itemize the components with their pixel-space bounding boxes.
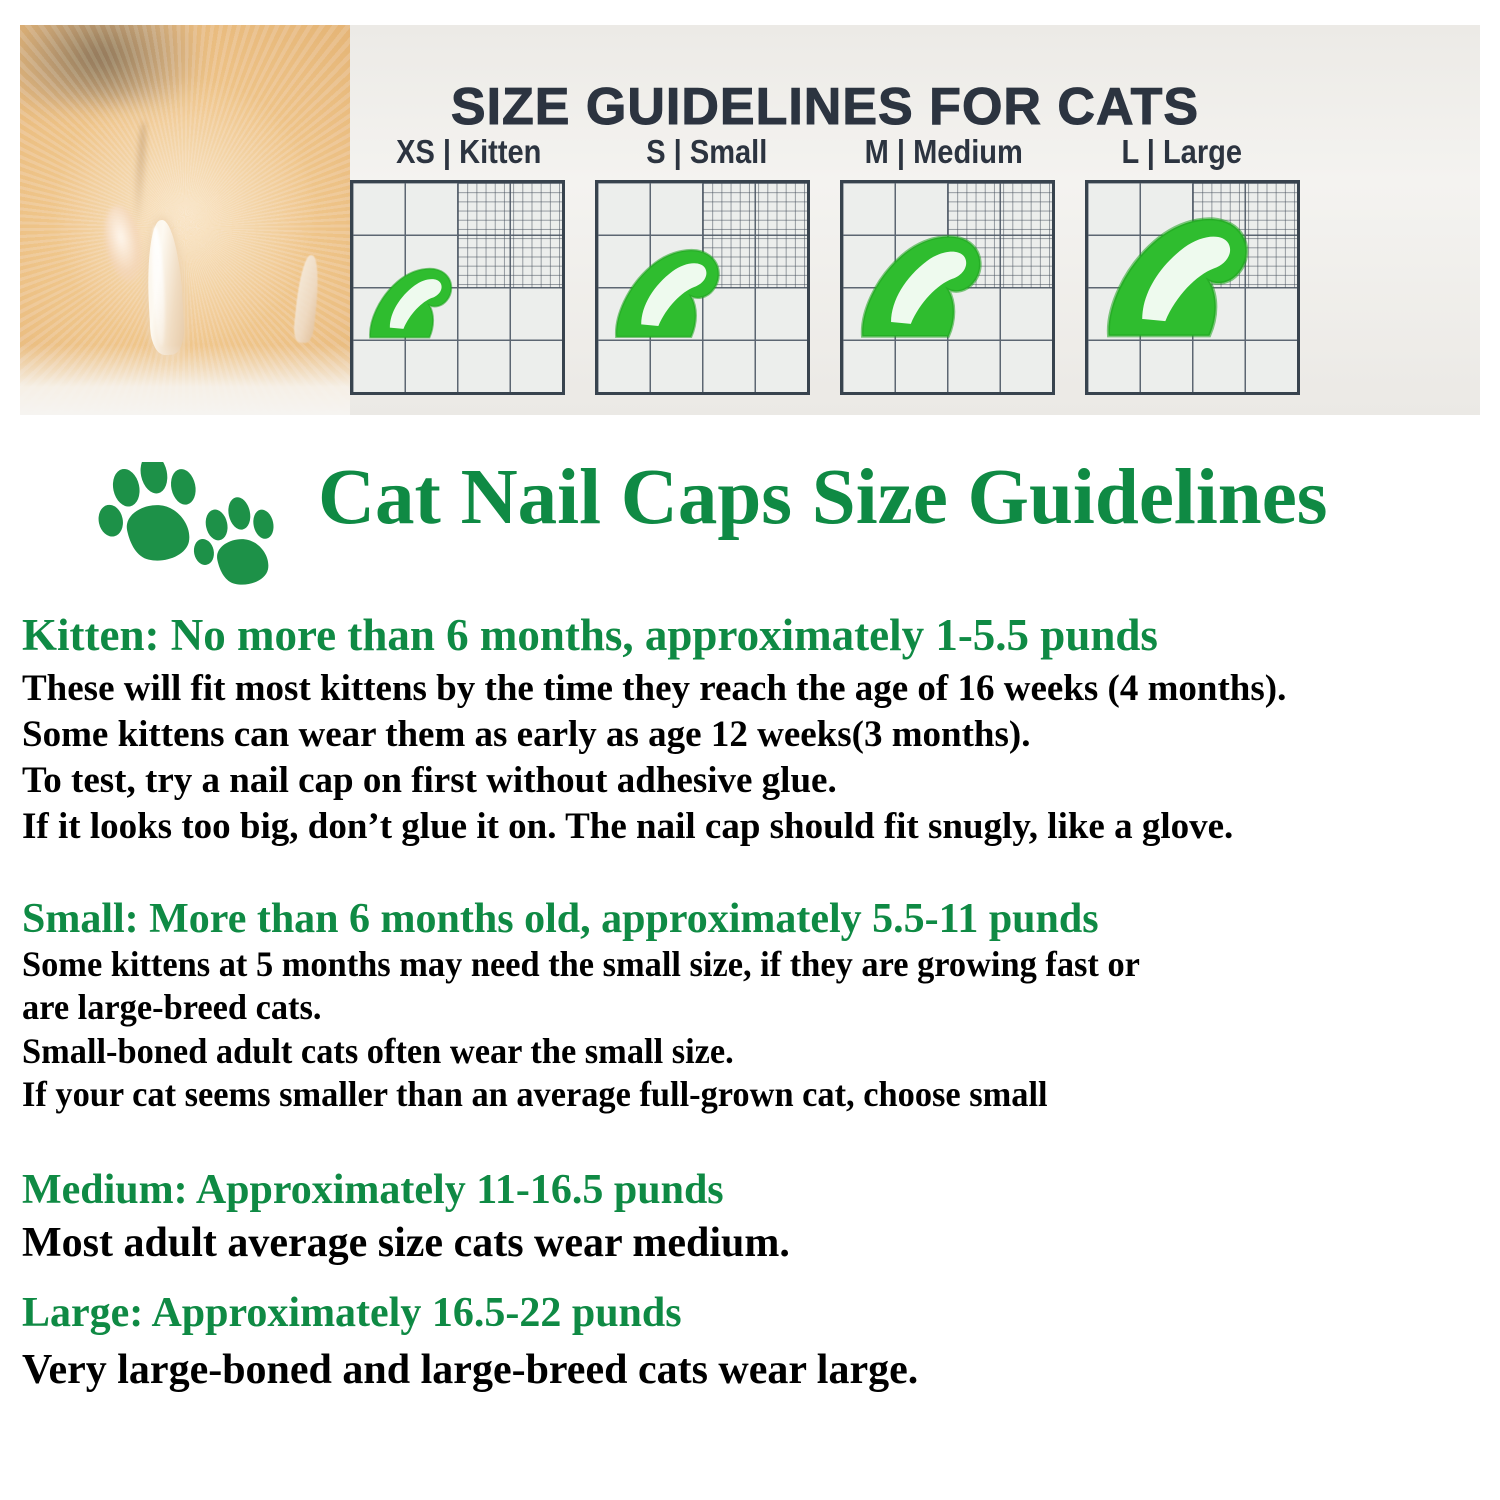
size-label-l: L | Large [1077,133,1286,171]
paw-print-icon [185,491,285,587]
section-heading-small: Small: More than 6 months old, approxima… [22,897,1482,942]
size-box-row [350,180,1300,395]
grid-fine [458,183,563,288]
guidelines-content: Kitten: No more than 6 months, approxima… [22,612,1482,1396]
body-line: These will fit most kittens by the time … [22,666,1482,712]
body-line: Some kittens at 5 months may need the sm… [22,943,1416,986]
section-heading-large: Large: Approximately 16.5-22 punds [22,1291,1482,1336]
nail-cap-icon [610,248,727,340]
size-label-s: S | Small [602,133,811,171]
body-line: If it looks too big, don’t glue it on. T… [22,804,1482,850]
body-line: Most adult average size cats wear medium… [22,1218,1482,1268]
body-line: Some kittens can wear them as early as a… [22,712,1482,758]
size-box-s [595,180,810,395]
size-label-m: M | Medium [839,133,1048,171]
body-line: are large-breed cats. [22,986,1416,1029]
size-box-xs [350,180,565,395]
page-title: Cat Nail Caps Size Guidelines [318,458,1483,537]
body-line: To test, try a nail cap on first without… [22,758,1482,804]
paw-print-icon-group [95,462,300,587]
nail-cap-icon [365,267,458,340]
paw-print-icon [95,462,209,572]
nail-cap-icon [855,234,990,340]
section-small: Small: More than 6 months old, approxima… [22,897,1482,1116]
section-body-medium: Most adult average size cats wear medium… [22,1218,1482,1268]
body-line: Small-boned adult cats often wear the sm… [22,1030,1416,1073]
size-chart-panel: SIZE GUIDELINES FOR CATS XS | Kitten S |… [20,25,1480,415]
fur-texture [20,25,350,415]
section-kitten: Kitten: No more than 6 months, approxima… [22,612,1482,851]
section-heading-medium: Medium: Approximately 11-16.5 punds [22,1168,1482,1213]
body-line: Very large-boned and large-breed cats we… [22,1345,1482,1395]
chart-title: SIZE GUIDELINES FOR CATS [350,77,1300,137]
section-body-kitten: These will fit most kittens by the time … [22,666,1482,851]
section-body-small: Some kittens at 5 months may need the sm… [22,943,1416,1116]
size-label-row: XS | Kitten S | Small M | Medium L | Lar… [350,133,1300,171]
size-label-xs: XS | Kitten [364,133,573,171]
cat-paw-photo [20,25,350,415]
nail-cap-icon [1100,216,1258,340]
section-medium: Medium: Approximately 11-16.5 punds Most… [22,1168,1482,1269]
section-heading-kitten: Kitten: No more than 6 months, approxima… [22,612,1482,660]
size-box-l [1085,180,1300,395]
section-large: Large: Approximately 16.5-22 punds Very … [22,1291,1482,1396]
section-body-large: Very large-boned and large-breed cats we… [22,1345,1482,1395]
body-line: If your cat seems smaller than an averag… [22,1073,1416,1116]
size-box-m [840,180,1055,395]
